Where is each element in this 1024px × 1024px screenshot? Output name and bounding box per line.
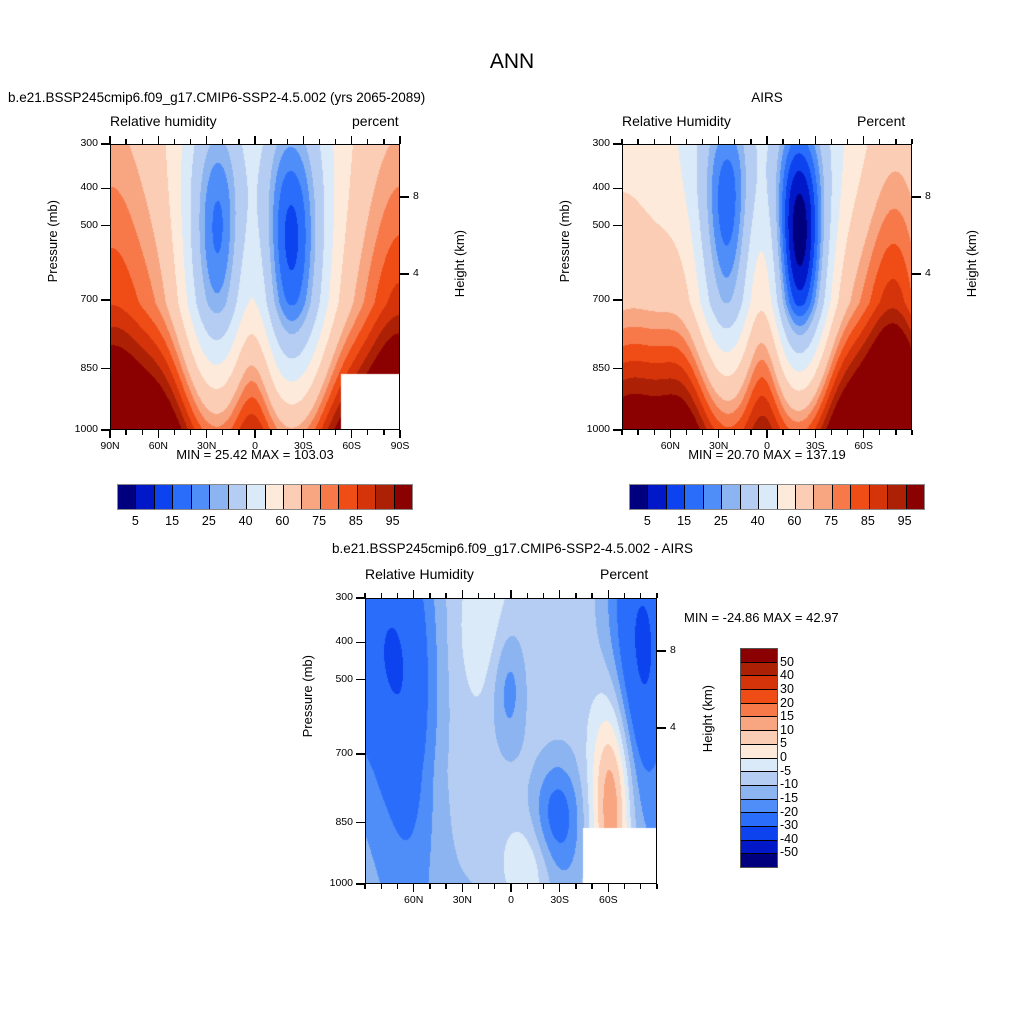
colorbar-swatch [395,485,412,509]
x-axis-minor-tick [624,593,625,598]
x-axis-minor-tick [367,430,368,435]
colorbar-tick-label: 15 [664,514,704,528]
x-axis-minor-tick [270,139,271,144]
colorbar-swatch [376,485,394,509]
x-axis-minor-tick [911,139,912,144]
colorbar-tick-label: 40 [738,514,778,528]
x-axis-minor-tick [911,430,912,435]
x-axis-minor-tick [637,430,638,435]
x-axis-minor-tick [381,884,382,889]
colorbar-swatch [759,485,777,509]
x-axis-minor-tick [270,430,271,435]
panel-model-variable-label: Relative humidity [110,113,217,129]
x-axis-minor-tick [734,430,735,435]
y2-axis-tick [400,273,409,274]
x-axis-minor-tick [799,139,800,144]
y-axis-tick-label: 850 [64,362,98,374]
x-axis-minor-tick [238,139,239,144]
x-axis-minor-tick [287,430,288,435]
x-axis-minor-tick [591,593,592,598]
y-axis-tick [101,368,110,369]
x-axis-minor-tick [831,139,832,144]
x-axis-tick-label: 60S [586,894,630,906]
x-axis-minor-tick [879,139,880,144]
colorbar-swatch [814,485,832,509]
x-axis-major-tick [158,136,159,144]
x-axis-major-tick [462,884,463,892]
panel-obs-units-label: Percent [857,113,905,129]
panel-obs-colorbar[interactable] [629,484,925,510]
x-axis-major-tick [303,136,304,144]
x-axis-major-tick [399,136,400,144]
colorbar-swatch [229,485,247,509]
x-axis-minor-tick [174,139,175,144]
colorbar-swatch [302,485,320,509]
x-axis-major-tick [109,136,110,144]
x-axis-minor-tick [543,593,544,598]
x-axis-major-tick [206,430,207,438]
y-axis-tick [356,679,365,680]
y-axis-tick [613,368,622,369]
x-axis-major-tick [718,430,719,438]
figure-main-title: ANN [0,50,1024,74]
x-axis-minor-tick [702,430,703,435]
colorbar-swatch [210,485,228,509]
y2-axis-tick-label: 8 [925,190,931,202]
panel-model-y2label: Height (km) [452,230,519,245]
panel-obs-minmax: MIN = 20.70 MAX = 137.19 [622,447,912,462]
x-axis-minor-tick [831,430,832,435]
x-axis-minor-tick [222,139,223,144]
x-axis-minor-tick [319,139,320,144]
x-axis-major-tick [670,430,671,438]
colorbar-swatch [833,485,851,509]
colorbar-swatch [247,485,265,509]
x-axis-major-tick [351,430,352,438]
x-axis-major-tick [670,136,671,144]
y2-axis-tick-label: 8 [670,644,676,656]
colorbar-tick-label: 5 [115,514,155,528]
colorbar-swatch [358,485,376,509]
colorbar-tick-label: -30 [780,818,798,832]
x-axis-minor-tick [686,430,687,435]
colorbar-tick-label: -15 [780,791,798,805]
colorbar-swatch [870,485,888,509]
x-axis-major-tick [559,590,560,598]
y2-axis-tick-label: 8 [413,190,419,202]
panel-model-colorbar[interactable] [117,484,413,510]
y-axis-tick [613,225,622,226]
y-axis-tick-label: 700 [64,293,98,305]
x-axis-major-tick [351,136,352,144]
colorbar-swatch [796,485,814,509]
x-axis-major-tick [158,430,159,438]
y-axis-tick-label: 300 [576,137,610,149]
panel-diff-ylabel: Pressure (mb) [300,655,382,670]
panel-diff-plot-area [365,598,657,884]
x-axis-major-tick [863,430,864,438]
x-axis-minor-tick [656,884,657,889]
x-axis-major-tick [559,884,560,892]
x-axis-minor-tick [142,430,143,435]
x-axis-major-tick [510,590,511,598]
colorbar-swatch [685,485,703,509]
colorbar-swatch [136,485,154,509]
x-axis-minor-tick [364,884,365,889]
y2-axis-tick [657,727,666,728]
x-axis-major-tick [608,884,609,892]
colorbar-tick-label: 5 [780,736,787,750]
x-axis-minor-tick [445,593,446,598]
x-axis-minor-tick [222,430,223,435]
y-axis-tick-label: 500 [576,219,610,231]
x-axis-minor-tick [383,139,384,144]
colorbar-tick-label: 40 [780,668,794,682]
colorbar-swatch [851,485,869,509]
colorbar-swatch [630,485,648,509]
y-axis-tick-label: 1000 [319,877,353,889]
colorbar-tick-label: -10 [780,777,798,791]
x-axis-minor-tick [847,139,848,144]
colorbar-tick-label: 95 [373,514,413,528]
y-axis-tick-label: 500 [319,673,353,685]
colorbar-swatch [192,485,210,509]
y2-axis-tick [657,650,666,651]
colorbar-tick-label: 15 [780,709,794,723]
x-axis-major-tick [510,884,511,892]
panel-model-title: b.e21.BSSP245cmip6.f09_g17.CMIP6-SSP2-4.… [8,90,425,105]
x-axis-minor-tick [656,593,657,598]
x-axis-minor-tick [287,139,288,144]
panel-diff-contour-field [366,599,657,884]
x-axis-minor-tick [879,430,880,435]
colorbar-tick-label: 50 [780,655,794,669]
colorbar-tick-label: -20 [780,805,798,819]
y-axis-tick-label: 500 [64,219,98,231]
x-axis-minor-tick [782,139,783,144]
x-axis-major-tick [718,136,719,144]
colorbar-tick-label: 85 [848,514,888,528]
x-axis-minor-tick [847,430,848,435]
y-axis-tick-label: 400 [64,181,98,193]
x-axis-major-tick [109,430,110,438]
y-axis-tick [101,188,110,189]
y-axis-tick-label: 700 [576,293,610,305]
colorbar-swatch [722,485,740,509]
x-axis-minor-tick [686,139,687,144]
colorbar-tick-label: 75 [299,514,339,528]
x-axis-minor-tick [527,593,528,598]
x-axis-minor-tick [637,139,638,144]
y-axis-tick-label: 700 [319,747,353,759]
x-axis-major-tick [206,136,207,144]
x-axis-tick-label: 0 [489,894,533,906]
x-axis-minor-tick [575,884,576,889]
x-axis-tick-label: 30S [538,894,582,906]
x-axis-major-tick [815,430,816,438]
y2-axis-tick [400,196,409,197]
y2-axis-tick-label: 4 [925,267,931,279]
y-axis-tick [356,822,365,823]
x-axis-minor-tick [364,593,365,598]
x-axis-minor-tick [750,139,751,144]
y-axis-tick-label: 300 [64,137,98,149]
panel-obs-plot-area [622,144,912,430]
x-axis-minor-tick [654,139,655,144]
x-axis-minor-tick [494,884,495,889]
x-axis-major-tick [413,884,414,892]
x-axis-major-tick [815,136,816,144]
y2-axis-tick [912,273,921,274]
colorbar-tick-label: 40 [226,514,266,528]
colorbar-swatch [704,485,722,509]
x-axis-major-tick [254,136,255,144]
colorbar-tick-label: 60 [262,514,302,528]
panel-diff-minmax: MIN = -24.86 MAX = 42.97 [684,610,839,625]
panel-obs-y2label: Height (km) [964,230,1024,245]
x-axis-minor-tick [543,884,544,889]
x-axis-major-tick [608,590,609,598]
panel-model-plot-area [110,144,400,430]
x-axis-minor-tick [335,430,336,435]
x-axis-minor-tick [174,430,175,435]
x-axis-major-tick [399,430,400,438]
y-axis-tick [613,188,622,189]
y2-axis-tick-label: 4 [413,267,419,279]
colorbar-tick-label: -5 [780,764,791,778]
x-axis-major-tick [413,590,414,598]
y2-axis-tick-label: 4 [670,721,676,733]
x-axis-minor-tick [799,430,800,435]
y-axis-tick-label: 400 [319,635,353,647]
x-axis-minor-tick [575,593,576,598]
x-axis-minor-tick [125,430,126,435]
x-axis-minor-tick [621,139,622,144]
x-axis-minor-tick [895,430,896,435]
colorbar-swatch [284,485,302,509]
colorbar-tick-label: 25 [189,514,229,528]
colorbar-tick-label: 10 [780,723,794,737]
x-axis-tick-label: 30N [440,894,484,906]
x-axis-minor-tick [125,139,126,144]
x-axis-minor-tick [190,430,191,435]
colorbar-tick-label: 5 [627,514,667,528]
colorbar-swatch [888,485,906,509]
x-axis-minor-tick [142,139,143,144]
colorbar-swatch [778,485,796,509]
x-axis-major-tick [303,430,304,438]
x-axis-minor-tick [895,139,896,144]
x-axis-minor-tick [238,430,239,435]
x-axis-major-tick [766,136,767,144]
x-axis-minor-tick [397,593,398,598]
x-axis-minor-tick [429,884,430,889]
x-axis-minor-tick [367,139,368,144]
colorbar-tick-label: 20 [780,696,794,710]
colorbar-swatch [741,485,759,509]
colorbar-tick-label: 30 [780,682,794,696]
colorbar-tick-label: 15 [152,514,192,528]
colorbar-swatch [339,485,357,509]
x-axis-minor-tick [640,593,641,598]
colorbar-swatch [266,485,284,509]
colorbar-tick-label: 85 [336,514,376,528]
colorbar-tick-label: 95 [885,514,925,528]
colorbar-swatch [667,485,685,509]
panel-diff-units-label: Percent [600,566,648,582]
y-axis-tick-label: 1000 [576,423,610,435]
y-axis-tick-label: 400 [576,181,610,193]
x-axis-minor-tick [335,139,336,144]
panel-model-ylabel: Pressure (mb) [45,200,127,215]
panel-model-units-label: percent [352,113,399,129]
y-axis-tick [356,642,365,643]
colorbar-swatch [173,485,191,509]
x-axis-minor-tick [429,593,430,598]
colorbar-tick-label: 60 [774,514,814,528]
panel-model-minmax: MIN = 25.42 MAX = 103.03 [110,447,400,462]
y2-axis-tick [912,196,921,197]
x-axis-major-tick [863,136,864,144]
x-axis-minor-tick [591,884,592,889]
x-axis-minor-tick [381,593,382,598]
colorbar-tick-label: -40 [780,832,798,846]
x-axis-minor-tick [750,430,751,435]
y-axis-tick-label: 1000 [64,423,98,435]
x-axis-minor-tick [654,430,655,435]
x-axis-minor-tick [319,430,320,435]
x-axis-major-tick [254,430,255,438]
colorbar-tick-label: -50 [780,845,798,859]
panel-obs-ylabel: Pressure (mb) [557,200,639,215]
panel-diff-title: b.e21.BSSP245cmip6.f09_g17.CMIP6-SSP2-4.… [290,541,735,556]
y-axis-tick [101,299,110,300]
colorbar-swatch [907,485,924,509]
x-axis-tick-label: 60N [392,894,436,906]
panel-model-contour-field [111,145,400,430]
x-axis-minor-tick [190,139,191,144]
colorbar-swatch [118,485,136,509]
colorbar-tick-label: 0 [780,750,787,764]
x-axis-minor-tick [397,884,398,889]
x-axis-minor-tick [624,884,625,889]
panel-obs-contour-field [623,145,912,430]
x-axis-minor-tick [478,884,479,889]
y-axis-tick [101,225,110,226]
colorbar-tick-label: 25 [701,514,741,528]
y-axis-tick [613,299,622,300]
x-axis-minor-tick [445,884,446,889]
panel-diff-variable-label: Relative Humidity [365,566,474,582]
panel-obs-variable-label: Relative Humidity [622,113,731,129]
x-axis-minor-tick [527,884,528,889]
colorbar-swatch [321,485,339,509]
colorbar-swatch [155,485,173,509]
panel-obs-title: AIRS [622,90,912,105]
x-axis-minor-tick [621,430,622,435]
x-axis-major-tick [462,590,463,598]
x-axis-minor-tick [383,430,384,435]
y-axis-tick-label: 850 [319,816,353,828]
x-axis-minor-tick [640,884,641,889]
x-axis-minor-tick [734,139,735,144]
x-axis-minor-tick [702,139,703,144]
x-axis-minor-tick [494,593,495,598]
x-axis-minor-tick [478,593,479,598]
x-axis-minor-tick [782,430,783,435]
y-axis-tick-label: 850 [576,362,610,374]
x-axis-major-tick [766,430,767,438]
y-axis-tick [356,753,365,754]
colorbar-tick-label: 75 [811,514,851,528]
colorbar-swatch [648,485,666,509]
y-axis-tick-label: 300 [319,591,353,603]
